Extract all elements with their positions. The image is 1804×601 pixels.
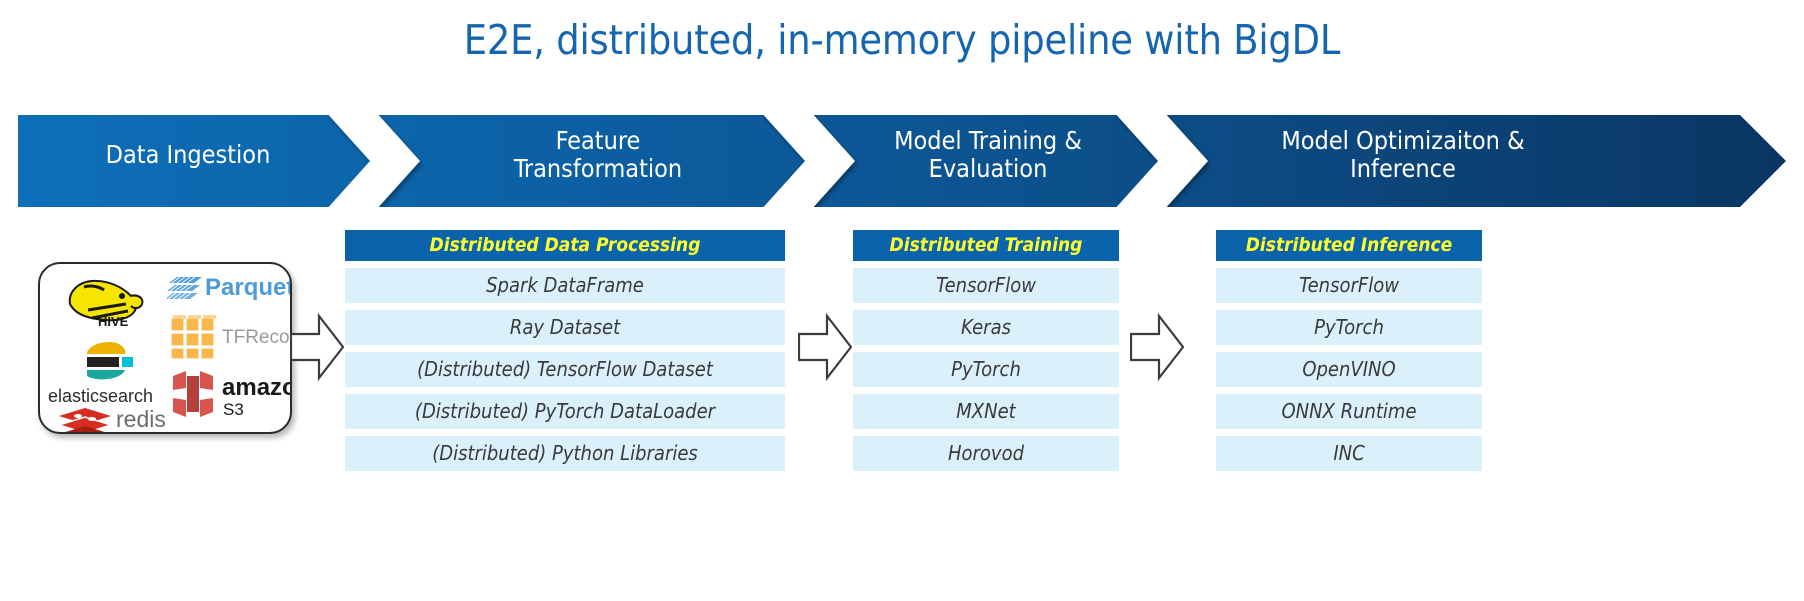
arrow-training-to-inference xyxy=(1130,313,1184,381)
table-row: (Distributed) TensorFlow Dataset xyxy=(345,352,785,387)
table-row: PyTorch xyxy=(853,352,1119,387)
table-row: PyTorch xyxy=(1216,310,1482,345)
parquet-icon xyxy=(167,276,203,302)
table-row: Ray Dataset xyxy=(345,310,785,345)
tfrecord-label: TFRecord xyxy=(222,327,292,349)
arrow-ingestion-to-processing xyxy=(290,313,344,381)
arrow-processing-to-training xyxy=(798,313,852,381)
hive-label: HIVE xyxy=(98,314,128,329)
diagram-canvas: E2E, distributed, in-memory pipeline wit… xyxy=(0,0,1804,601)
parquet-label: Parquet xyxy=(205,274,292,302)
sources-ellipsis: ... xyxy=(195,412,223,434)
table-row: Horovod xyxy=(853,436,1119,471)
table-distributed-inference: Distributed Inference TensorFlow PyTorch… xyxy=(1216,230,1482,471)
table-row: INC xyxy=(1216,436,1482,471)
table-row: ONNX Runtime xyxy=(1216,394,1482,429)
table-header-inference: Distributed Inference xyxy=(1216,230,1482,261)
table-distributed-training: Distributed Training TensorFlow Keras Py… xyxy=(853,230,1119,471)
amazon-label: amazon xyxy=(222,374,292,402)
table-row: OpenVINO xyxy=(1216,352,1482,387)
table-row: MXNet xyxy=(853,394,1119,429)
table-row: Keras xyxy=(853,310,1119,345)
redis-label: redis xyxy=(116,406,166,433)
page-title: E2E, distributed, in-memory pipeline wit… xyxy=(0,16,1804,64)
elasticsearch-icon xyxy=(85,340,135,384)
table-distributed-data-processing: Distributed Data Processing Spark DataFr… xyxy=(345,230,785,471)
table-row: TensorFlow xyxy=(1216,268,1482,303)
tfrecord-icon xyxy=(167,312,219,362)
data-source-card: HIVE elasticsearch redis xyxy=(38,262,292,434)
table-row: (Distributed) PyTorch DataLoader xyxy=(345,394,785,429)
table-row: Spark DataFrame xyxy=(345,268,785,303)
elasticsearch-label: elasticsearch xyxy=(48,386,153,407)
table-row: (Distributed) Python Libraries xyxy=(345,436,785,471)
table-header-data-processing: Distributed Data Processing xyxy=(345,230,785,261)
pipeline-banner: Data Ingestion Feature Transformation Mo… xyxy=(18,115,1786,207)
redis-icon xyxy=(58,407,113,434)
table-header-training: Distributed Training xyxy=(853,230,1119,261)
table-row: TensorFlow xyxy=(853,268,1119,303)
amazon-s3-sublabel: S3 xyxy=(223,400,244,420)
